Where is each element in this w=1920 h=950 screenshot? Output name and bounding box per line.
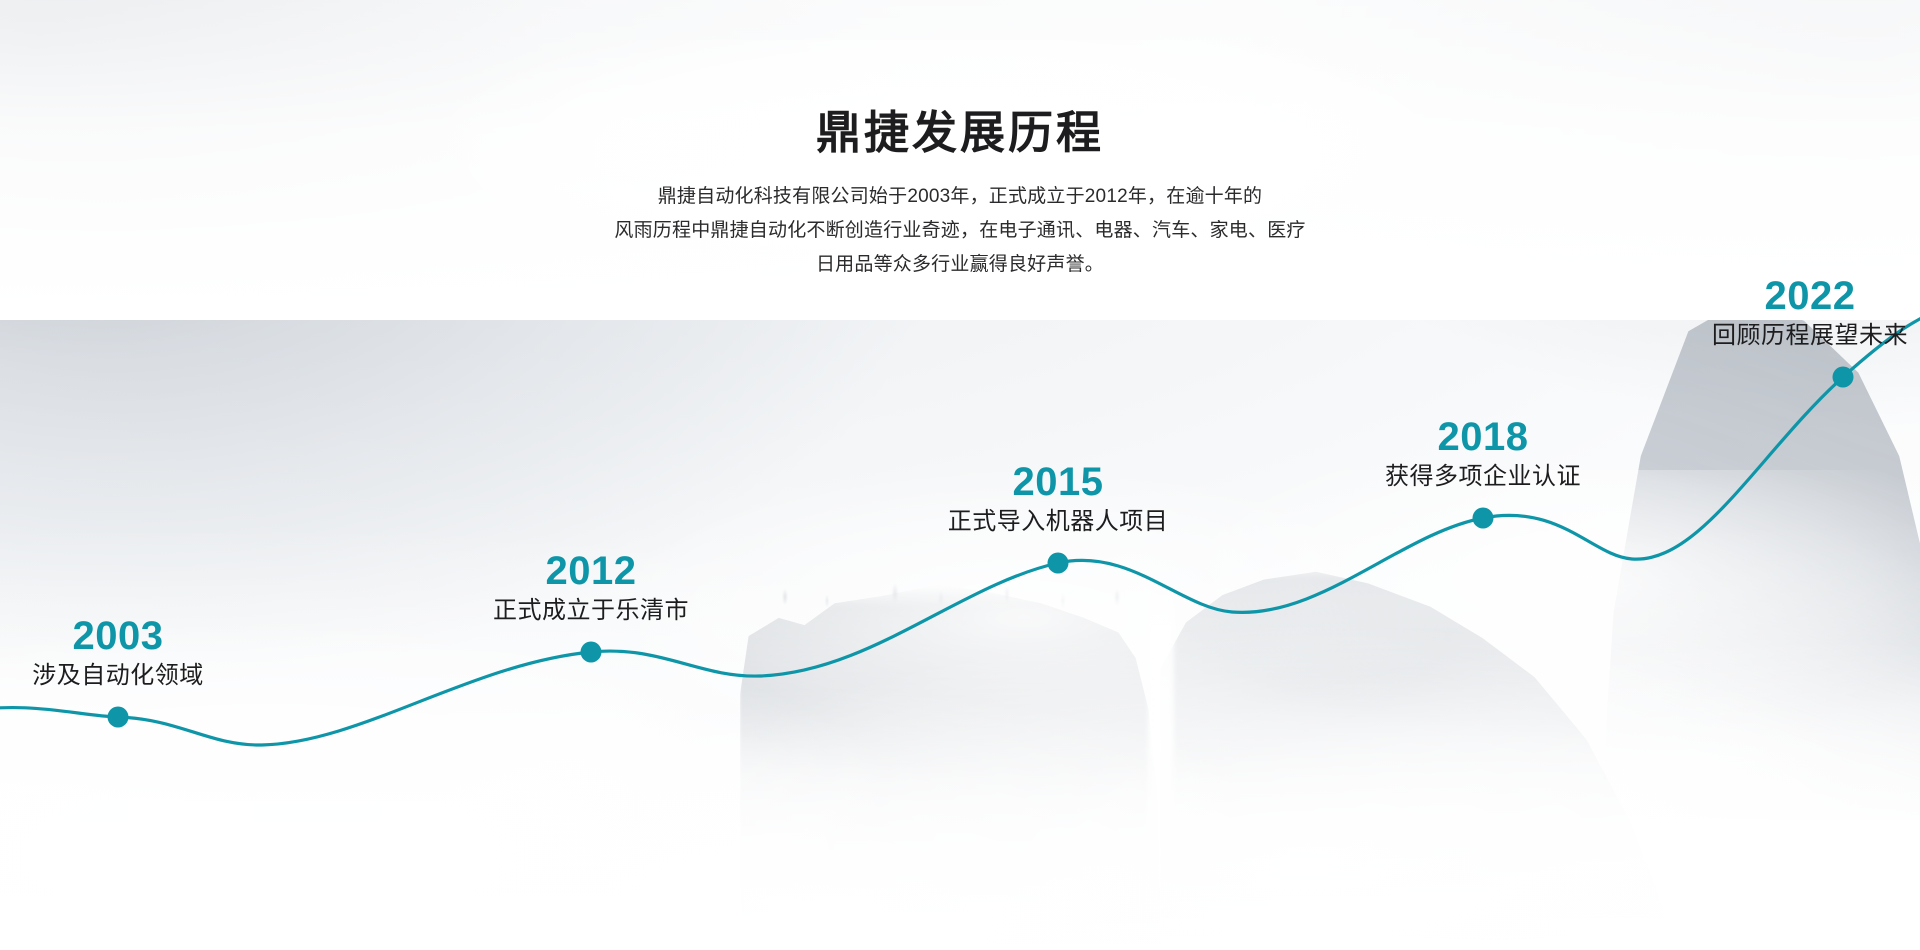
milestone-year-2022: 2022 [1712,275,1908,317]
milestone-label-2018: 获得多项企业认证 [1385,462,1581,492]
timeline-node-dot-2012[interactable] [581,642,602,663]
timeline-node-dot-2022[interactable] [1833,367,1854,388]
description-line-1: 鼎捷自动化科技有限公司始于2003年，正式成立于2012年，在逾十年的 [0,180,1920,214]
milestone-2018[interactable]: 2018获得多项企业认证 [1385,416,1581,492]
milestone-2015[interactable]: 2015正式导入机器人项目 [948,461,1169,537]
infographic-canvas: 鼎捷发展历程 鼎捷自动化科技有限公司始于2003年，正式成立于2012年，在逾十… [0,0,1920,950]
milestone-2003[interactable]: 2003涉及自动化领域 [32,615,204,691]
milestone-year-2012: 2012 [493,550,689,592]
page-title: 鼎捷发展历程 [0,108,1920,158]
timeline-node-dot-2015[interactable] [1048,553,1069,574]
timeline-node-dot-2018[interactable] [1473,508,1494,529]
timeline-node-dot-2003[interactable] [108,707,129,728]
milestone-year-2003: 2003 [32,615,204,657]
milestone-year-2015: 2015 [948,461,1169,503]
header-block: 鼎捷发展历程 鼎捷自动化科技有限公司始于2003年，正式成立于2012年，在逾十… [0,108,1920,282]
description-line-3: 日用品等众多行业赢得良好声誉。 [0,248,1920,282]
milestone-label-2012: 正式成立于乐清市 [493,596,689,626]
milestone-label-2015: 正式导入机器人项目 [948,507,1169,537]
description-line-2: 风雨历程中鼎捷自动化不断创造行业奇迹，在电子通讯、电器、汽车、家电、医疗 [0,214,1920,248]
milestone-label-2003: 涉及自动化领域 [32,661,204,691]
milestone-2012[interactable]: 2012正式成立于乐清市 [493,550,689,626]
page-description: 鼎捷自动化科技有限公司始于2003年，正式成立于2012年，在逾十年的 风雨历程… [0,180,1920,282]
timeline-dot-group [108,367,1854,728]
milestone-year-2018: 2018 [1385,416,1581,458]
milestone-label-2022: 回顾历程展望未来 [1712,321,1908,351]
milestone-2022[interactable]: 2022回顾历程展望未来 [1712,275,1908,351]
